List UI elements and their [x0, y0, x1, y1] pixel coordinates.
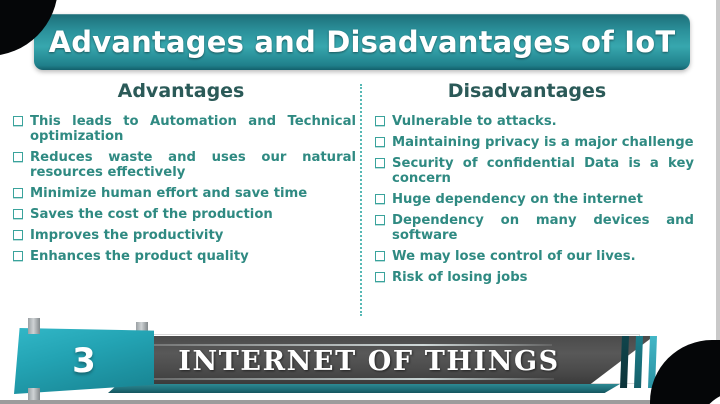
slide-canvas: Advantages and Disadvantages of IoT Adva…: [0, 0, 720, 404]
tag-pin-top: [28, 318, 40, 334]
footer-teal-strip: [108, 384, 620, 393]
advantages-list: This leads to Automation and Technical o…: [12, 114, 356, 264]
slide-title: Advantages and Disadvantages of IoT: [49, 25, 676, 59]
disadvantages-heading: Disadvantages: [362, 80, 692, 102]
frame-top-edge: [0, 0, 720, 3]
list-item: Maintaining privacy is a major challenge: [374, 135, 694, 150]
list-item: Vulnerable to attacks.: [374, 114, 694, 129]
disadvantages-column: Vulnerable to attacks. Maintaining priva…: [374, 114, 694, 291]
footer-title: INTERNET OF THINGS: [104, 340, 634, 382]
advantages-heading: Advantages: [0, 80, 362, 102]
advantages-column: This leads to Automation and Technical o…: [12, 114, 356, 270]
list-item: Minimize human effort and save time: [12, 186, 356, 201]
list-item: Huge dependency on the internet: [374, 192, 694, 207]
page-number: 3: [14, 330, 154, 392]
column-divider: [360, 84, 362, 316]
list-item: Enhances the product quality: [12, 249, 356, 264]
list-item: Improves the productivity: [12, 228, 356, 243]
footer-banner: INTERNET OF THINGS 3: [0, 318, 720, 404]
corner-bottom-right-inner: [698, 392, 720, 404]
list-item: Risk of losing jobs: [374, 270, 694, 285]
slide-title-banner: Advantages and Disadvantages of IoT: [34, 14, 690, 70]
list-item: We may lose control of our lives.: [374, 249, 694, 264]
list-item: This leads to Automation and Technical o…: [12, 114, 356, 144]
list-item: Saves the cost of the production: [12, 207, 356, 222]
list-item: Security of confidential Data is a key c…: [374, 156, 694, 186]
list-item: Reduces waste and uses our natural resou…: [12, 150, 356, 180]
frame-bottom-edge: [0, 400, 720, 404]
disadvantages-list: Vulnerable to attacks. Maintaining priva…: [374, 114, 694, 285]
list-item: Dependency on many devices and software: [374, 213, 694, 243]
